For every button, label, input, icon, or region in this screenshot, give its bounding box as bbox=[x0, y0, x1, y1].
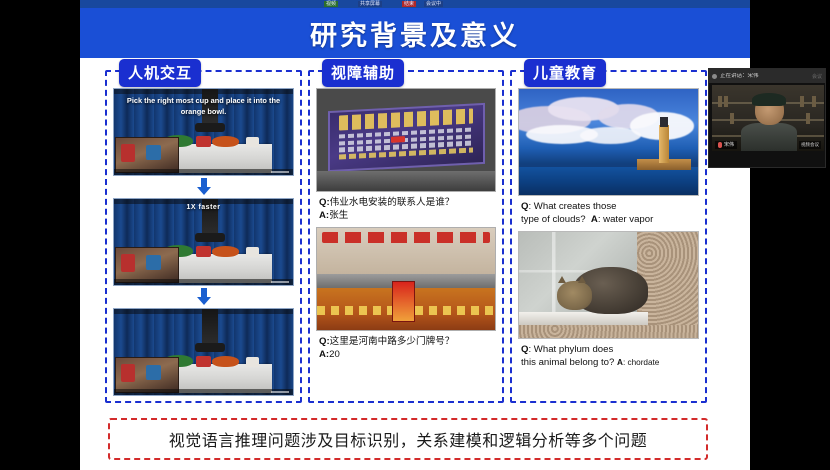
participant-name-badge: 宋伟 bbox=[715, 141, 737, 149]
qa-block-clouds: Q: What creates those type of clouds? A:… bbox=[518, 196, 699, 231]
video-panel-subtitle: 会议 bbox=[812, 73, 822, 80]
column-visual-impairment-assistance: 视障辅助 Q:伟业水电安装的联 bbox=[308, 70, 504, 403]
question-text: 伟业水电安装的联系人是谁？ bbox=[330, 197, 455, 208]
billboard-panel bbox=[328, 103, 485, 172]
cat-head bbox=[557, 281, 593, 311]
column-badge-human-robot-interaction: 人机交互 bbox=[119, 59, 201, 87]
video-progress-bar bbox=[114, 389, 293, 395]
question-text: : What phylum does bbox=[528, 344, 613, 355]
question-text: : What creates those bbox=[528, 201, 616, 212]
white-cup bbox=[246, 137, 259, 146]
orange-bowl bbox=[212, 356, 239, 366]
cat-ear bbox=[558, 276, 566, 283]
screen-root: 视频 共享屏幕 结束 会议中 研究背景及意义 人机交互 bbox=[0, 0, 830, 470]
app-chip-1: 视频 bbox=[324, 1, 338, 7]
red-cup bbox=[196, 356, 210, 366]
cloud-shape bbox=[580, 127, 641, 144]
presenter-app-strip: 视频 共享屏幕 结束 会议中 bbox=[80, 0, 750, 8]
picture-in-picture-view bbox=[115, 357, 179, 393]
store-poster bbox=[392, 281, 415, 322]
robot-frame-2: 1X faster bbox=[113, 198, 294, 286]
red-cup bbox=[196, 246, 210, 256]
answer-key: A: bbox=[319, 210, 329, 221]
qa-question-line: Q: What phylum does bbox=[521, 344, 697, 357]
column-2-content: Q:伟业水电安装的联系人是谁？ A:张生 Q:这里是河南中路多少门牌号？ A bbox=[316, 88, 496, 395]
app-chip-3: 结束 bbox=[402, 1, 416, 7]
red-cup bbox=[196, 136, 210, 146]
qa-block-billboard: Q:伟业水电安装的联系人是谁？ A:张生 bbox=[316, 192, 496, 227]
video-panel-titlebar[interactable]: 正在讲话：宋伟 会议 bbox=[709, 69, 825, 83]
gravel-ground bbox=[519, 325, 698, 338]
store-facade bbox=[317, 228, 495, 274]
picture-in-picture-view bbox=[115, 247, 179, 283]
qa-question-line: Q: What creates those bbox=[521, 201, 697, 214]
robot-gripper bbox=[195, 343, 225, 352]
slide-caption-text: 视觉语言推理问题涉及目标识别，关系建模和逻辑分析等多个问题 bbox=[169, 427, 648, 451]
app-chip-2: 共享屏幕 bbox=[358, 1, 382, 7]
robot-frame-3 bbox=[113, 308, 294, 396]
qa-block-animal: Q: What phylum does this animal belong t… bbox=[518, 339, 699, 374]
slide-caption-box: 视觉语言推理问题涉及目标识别，关系建模和逻辑分析等多个问题 bbox=[108, 418, 708, 460]
qa-question-line-2: this animal belong to? A: chordate bbox=[521, 357, 697, 370]
billboard-sign-photo bbox=[316, 88, 496, 192]
answer-text: 张生 bbox=[329, 210, 348, 221]
window-sill bbox=[519, 312, 648, 325]
answer-key: A bbox=[591, 214, 598, 225]
orange-bowl bbox=[212, 246, 239, 256]
lighthouse-lantern bbox=[660, 117, 669, 128]
qa-answer-line: A:20 bbox=[319, 349, 494, 362]
video-conference-panel[interactable]: 正在讲话：宋伟 会议 宋伟 视频会议 bbox=[708, 68, 826, 168]
column-children-education: 儿童教育 Q: What c bbox=[510, 70, 707, 403]
app-chip-4: 会议中 bbox=[424, 1, 443, 7]
question-text-2: type of clouds? bbox=[521, 214, 586, 225]
participant-torso bbox=[741, 123, 797, 151]
robot-gripper bbox=[195, 233, 225, 242]
column-human-robot-interaction: 人机交互 Pick the right most cup and plac bbox=[105, 70, 302, 403]
playback-speed-label: 1X faster bbox=[114, 204, 293, 211]
shared-slide: 视频 共享屏幕 结束 会议中 研究背景及意义 人机交互 bbox=[80, 0, 750, 470]
participant-video-tile[interactable]: 宋伟 视频会议 bbox=[712, 85, 824, 151]
participant-hair bbox=[752, 93, 786, 106]
flow-arrow-1 bbox=[113, 176, 294, 198]
column-badge-children-education: 儿童教育 bbox=[524, 59, 606, 87]
orange-bowl bbox=[212, 136, 239, 146]
cat-on-windowsill-photo bbox=[518, 231, 699, 339]
qa-question-line-2: type of clouds? A: water vapor bbox=[521, 214, 697, 227]
robot-frame-1: Pick the right most cup and place it int… bbox=[113, 88, 294, 176]
microphone-icon bbox=[718, 142, 722, 148]
store-red-signage bbox=[322, 232, 489, 244]
book bbox=[806, 113, 810, 124]
book bbox=[812, 96, 816, 107]
book bbox=[800, 96, 804, 107]
white-cup bbox=[246, 357, 259, 366]
qa-question-line: Q:这里是河南中路多少门牌号？ bbox=[319, 336, 494, 349]
qa-answer-line: A:张生 bbox=[319, 210, 494, 223]
robot-arm bbox=[202, 308, 218, 347]
book bbox=[718, 96, 722, 107]
question-text-2: this animal belong to? bbox=[521, 357, 614, 368]
white-cup bbox=[246, 247, 259, 256]
slide-columns: 人机交互 Pick the right most cup and plac bbox=[80, 58, 750, 413]
video-corner-badge: 视频会议 bbox=[799, 141, 821, 149]
book bbox=[724, 96, 728, 107]
book bbox=[730, 113, 734, 124]
picture-in-picture-view bbox=[115, 137, 179, 173]
storefront-sign-photo bbox=[316, 227, 496, 331]
robot-gripper bbox=[195, 123, 225, 132]
question-key: Q: bbox=[319, 197, 330, 208]
street-ground bbox=[317, 171, 495, 191]
video-panel-title: 正在讲话：宋伟 bbox=[720, 73, 759, 80]
qa-block-storefront: Q:这里是河南中路多少门牌号？ A:20 bbox=[316, 331, 496, 366]
sea-water bbox=[519, 167, 698, 195]
question-text: 这里是河南中路多少门牌号？ bbox=[330, 336, 455, 347]
lighthouse-tower bbox=[659, 125, 670, 163]
flow-arrow-2 bbox=[113, 286, 294, 308]
answer-text: 20 bbox=[329, 349, 340, 360]
answer-text: : chordate bbox=[623, 358, 659, 367]
video-progress-bar bbox=[114, 169, 293, 175]
answer-text: : water vapor bbox=[598, 214, 653, 225]
column-1-content: Pick the right most cup and place it int… bbox=[113, 88, 294, 395]
cat-ear bbox=[578, 276, 586, 283]
slide-title-banner: 研究背景及意义 bbox=[80, 8, 750, 58]
lighthouse-clouds-photo bbox=[518, 88, 699, 196]
qa-question-line: Q:伟业水电安装的联系人是谁？ bbox=[319, 197, 494, 210]
participant-name: 宋伟 bbox=[724, 141, 734, 149]
video-progress-bar bbox=[114, 279, 293, 285]
arrow-down-icon bbox=[196, 178, 212, 196]
column-3-content: Q: What creates those type of clouds? A:… bbox=[518, 88, 699, 395]
robot-instruction-overlay: Pick the right most cup and place it int… bbox=[125, 96, 283, 117]
question-key: Q: bbox=[319, 336, 330, 347]
arrow-down-icon bbox=[196, 288, 212, 306]
column-badge-visual-impairment-assistance: 视障辅助 bbox=[322, 59, 404, 87]
slide-title: 研究背景及意义 bbox=[310, 14, 520, 53]
speaker-icon bbox=[712, 74, 717, 79]
answer-key: A: bbox=[319, 349, 329, 360]
